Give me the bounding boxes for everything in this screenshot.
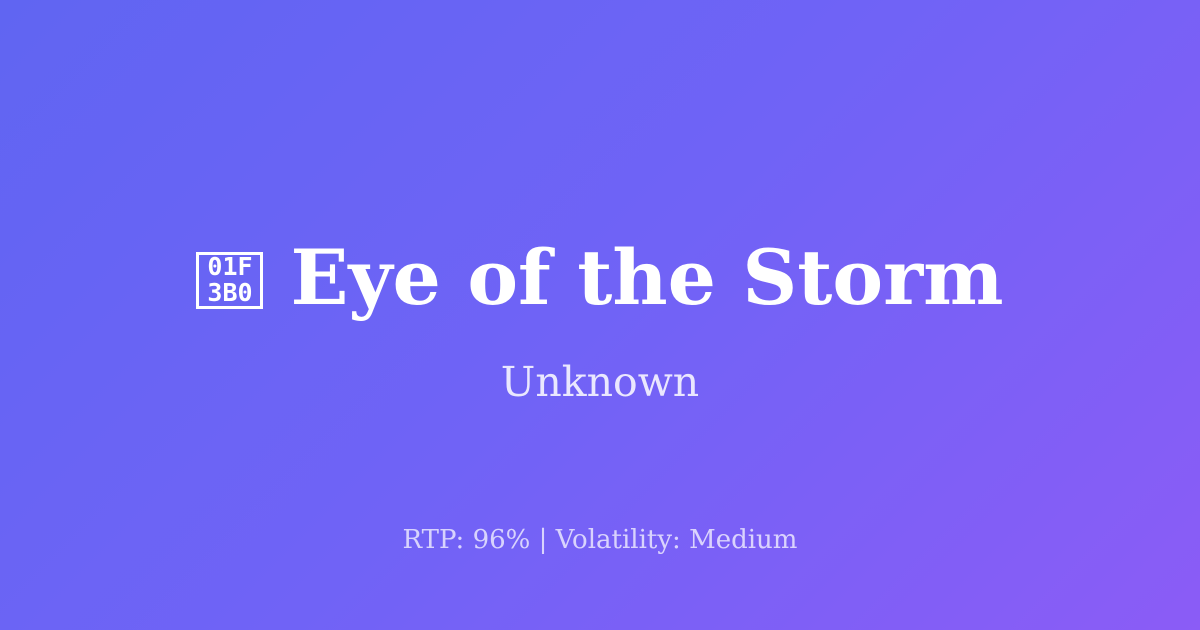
game-stats: RTP: 96% | Volatility: Medium [0,527,1200,553]
game-preview-card: 01F 3B0 Eye of the Storm Unknown RTP: 96… [0,0,1200,630]
tofu-codepoint-top: 01F [207,254,252,280]
game-title: Eye of the Storm [290,240,1003,316]
title-row: 01F 3B0 Eye of the Storm [0,232,1200,324]
tofu-codepoint-bottom: 3B0 [207,280,252,306]
slot-machine-emoji-icon: 01F 3B0 [196,252,263,309]
provider-label: Unknown [0,362,1200,403]
